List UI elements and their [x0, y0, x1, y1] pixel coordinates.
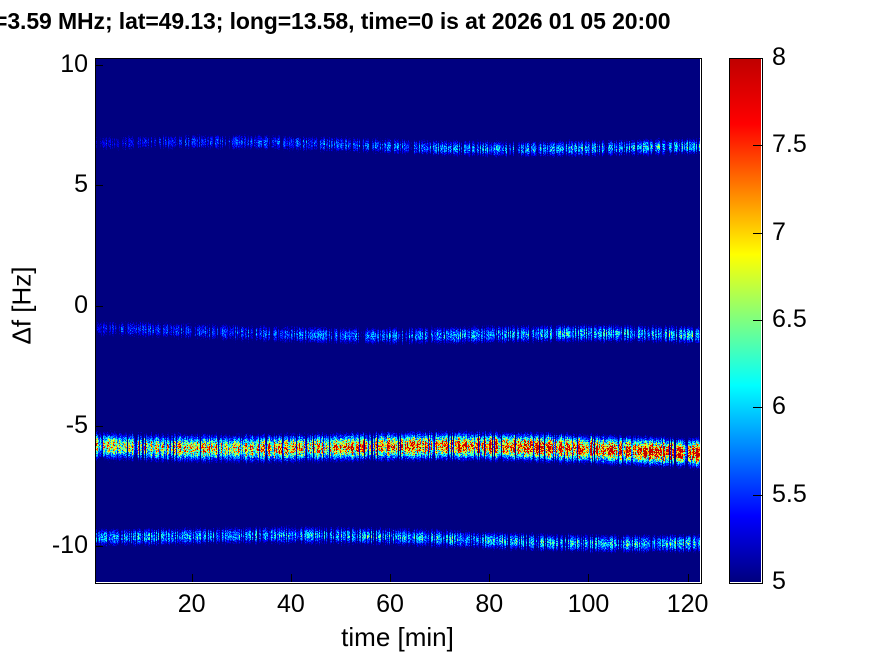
- colorbar-tick-mark: [753, 145, 762, 146]
- spectrogram-image[interactable]: [95, 58, 700, 582]
- y-tick-mark: [95, 185, 103, 186]
- y-tick-mark: [95, 426, 103, 427]
- x-tick-mark: [688, 574, 689, 582]
- colorbar-tick-label: 6.5: [772, 307, 862, 332]
- y-tick-label: -10: [4, 533, 88, 558]
- colorbar-tick-mark: [753, 320, 762, 321]
- x-axis-label: time [min]: [95, 622, 700, 653]
- colorbar-tick-mark: [753, 233, 762, 234]
- x-tick-mark: [489, 574, 490, 582]
- x-tick-mark: [192, 574, 193, 582]
- spectrogram-axes[interactable]: [95, 58, 700, 582]
- x-tick-label: 60: [345, 590, 435, 618]
- x-tick-label: 120: [643, 590, 733, 618]
- y-tick-label: 5: [4, 172, 88, 197]
- y-tick-mark: [95, 546, 103, 547]
- colorbar-tick-label: 7.5: [772, 132, 862, 157]
- y-tick-label: 10: [4, 52, 88, 77]
- y-tick-label: -5: [4, 413, 88, 438]
- x-tick-mark: [390, 574, 391, 582]
- x-tick-label: 80: [444, 590, 534, 618]
- x-tick-mark: [588, 574, 589, 582]
- colorbar-tick-mark: [753, 495, 762, 496]
- x-tick-label: 20: [147, 590, 237, 618]
- x-tick-mark: [291, 574, 292, 582]
- y-tick-mark: [95, 306, 103, 307]
- y-tick-mark: [95, 65, 103, 66]
- x-tick-label: 40: [246, 590, 336, 618]
- colorbar-tick-label: 8: [772, 45, 862, 70]
- colorbar-tick-label: 6: [772, 394, 862, 419]
- colorbar-tick-mark: [753, 407, 762, 408]
- figure-canvas: =3.59 MHz; lat=49.13; long=13.58, time=0…: [0, 0, 875, 656]
- y-axis-label: Δf [Hz]: [7, 206, 38, 406]
- colorbar-tick-label: 7: [772, 220, 862, 245]
- figure-title: =3.59 MHz; lat=49.13; long=13.58, time=0…: [0, 6, 875, 36]
- colorbar-tick-label: 5: [772, 569, 862, 594]
- x-tick-label: 100: [543, 590, 633, 618]
- colorbar-tick-label: 5.5: [772, 482, 862, 507]
